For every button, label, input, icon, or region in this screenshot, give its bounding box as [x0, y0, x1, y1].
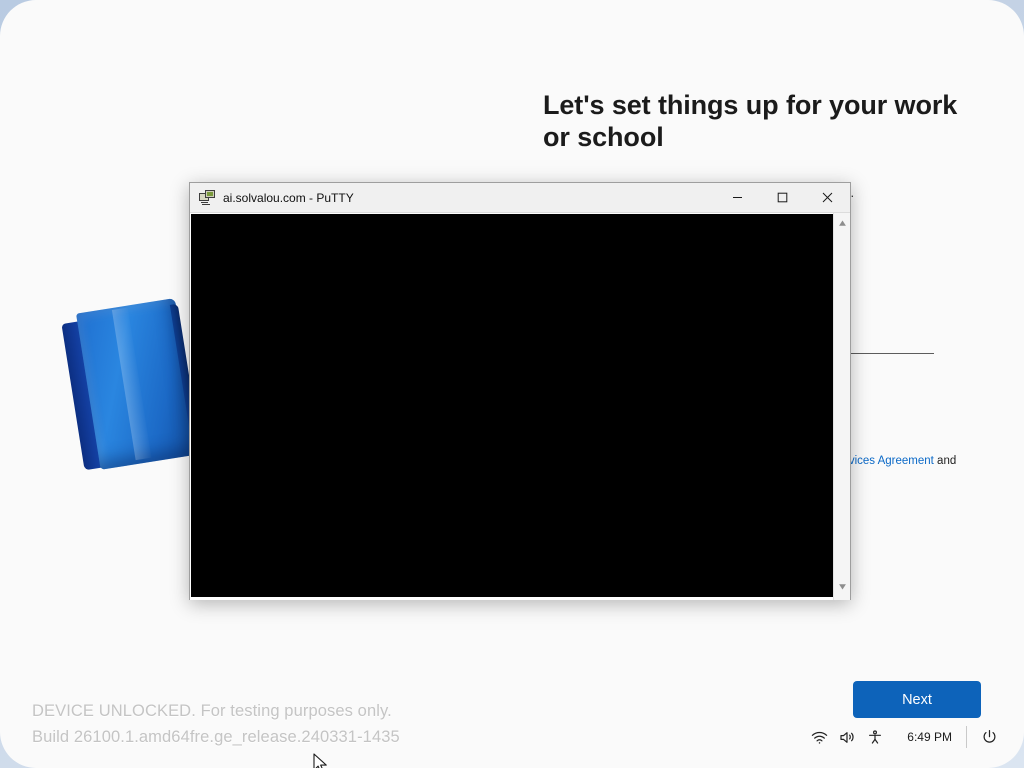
volume-icon[interactable]	[839, 730, 856, 745]
scroll-down-arrow-icon[interactable]	[837, 579, 848, 597]
putty-window[interactable]: ai.solvalou.com - PuTTY	[189, 182, 851, 600]
next-button[interactable]: Next	[853, 681, 981, 718]
close-button[interactable]	[805, 183, 850, 212]
putty-body	[190, 213, 850, 600]
power-icon[interactable]	[967, 729, 1010, 746]
watermark-line-2: Build 26100.1.amd64fre.ge_release.240331…	[32, 724, 400, 750]
desktop-screen: Let's set things up for your work or sch…	[0, 0, 1024, 768]
test-build-watermark: DEVICE UNLOCKED. For testing purposes on…	[32, 698, 400, 751]
legal-agreement-text: rvices Agreement and	[845, 454, 956, 470]
clock[interactable]: 6:49 PM	[893, 730, 966, 744]
putty-icon	[199, 190, 215, 206]
wifi-icon[interactable]	[811, 730, 828, 745]
putty-title-text: ai.solvalou.com - PuTTY	[223, 191, 715, 205]
minimize-button[interactable]	[715, 183, 760, 212]
terminal-scrollbar[interactable]	[833, 213, 850, 600]
system-tray: 6:49 PM	[801, 720, 1010, 754]
page-title: Let's set things up for your work or sch…	[543, 90, 973, 154]
watermark-line-1: DEVICE UNLOCKED. For testing purposes on…	[32, 698, 400, 724]
accessibility-icon[interactable]	[867, 730, 883, 745]
putty-titlebar[interactable]: ai.solvalou.com - PuTTY	[190, 183, 850, 213]
tray-icon-group	[801, 730, 893, 745]
terminal-output[interactable]	[191, 214, 833, 597]
services-agreement-link[interactable]: rvices Agreement	[845, 455, 934, 467]
maximize-button[interactable]	[760, 183, 805, 212]
signin-field-underline[interactable]	[846, 353, 934, 354]
scroll-up-arrow-icon[interactable]	[837, 216, 848, 234]
notebook-illustration	[60, 298, 202, 474]
legal-tail-text: and	[934, 455, 956, 467]
